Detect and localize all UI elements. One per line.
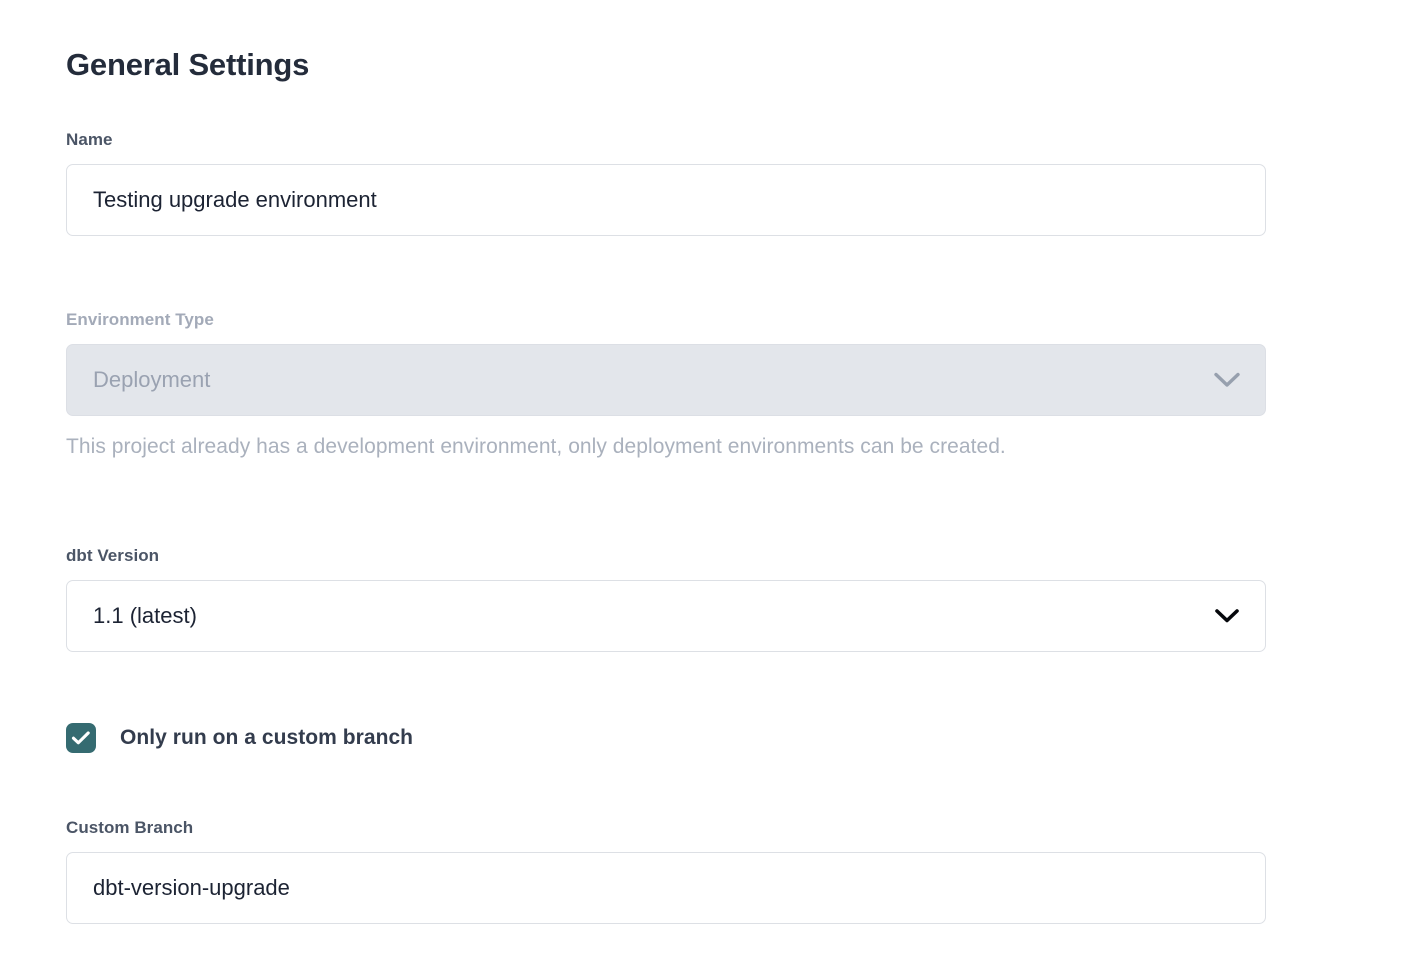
- chevron-down-icon: [1210, 344, 1244, 416]
- dbt-version-label: dbt Version: [66, 546, 1266, 566]
- chevron-down-icon[interactable]: [1210, 580, 1244, 652]
- field-group-name: Name: [66, 130, 1266, 236]
- general-settings-page: General Settings Name Environment Type D…: [0, 0, 1406, 958]
- environment-type-label: Environment Type: [66, 310, 1266, 330]
- dbt-version-select-value[interactable]: 1.1 (latest): [66, 580, 1266, 652]
- custom-branch-input[interactable]: [66, 852, 1266, 924]
- field-group-dbt-version: dbt Version 1.1 (latest): [66, 546, 1266, 652]
- check-icon: [71, 730, 91, 746]
- custom-branch-checkbox[interactable]: [66, 723, 96, 753]
- custom-branch-checkbox-row[interactable]: Only run on a custom branch: [66, 723, 413, 753]
- dbt-version-select[interactable]: 1.1 (latest): [66, 580, 1266, 652]
- field-group-environment-type: Environment Type Deployment This project…: [66, 310, 1266, 462]
- environment-type-helper-text: This project already has a development e…: [66, 433, 1266, 461]
- custom-branch-label: Custom Branch: [66, 818, 1266, 838]
- name-input[interactable]: [66, 164, 1266, 236]
- name-label: Name: [66, 130, 1266, 150]
- field-group-custom-branch: Custom Branch: [66, 818, 1266, 924]
- environment-type-select-value: Deployment: [66, 344, 1266, 416]
- custom-branch-checkbox-label[interactable]: Only run on a custom branch: [120, 726, 413, 750]
- page-title: General Settings: [66, 46, 309, 83]
- environment-type-select: Deployment: [66, 344, 1266, 416]
